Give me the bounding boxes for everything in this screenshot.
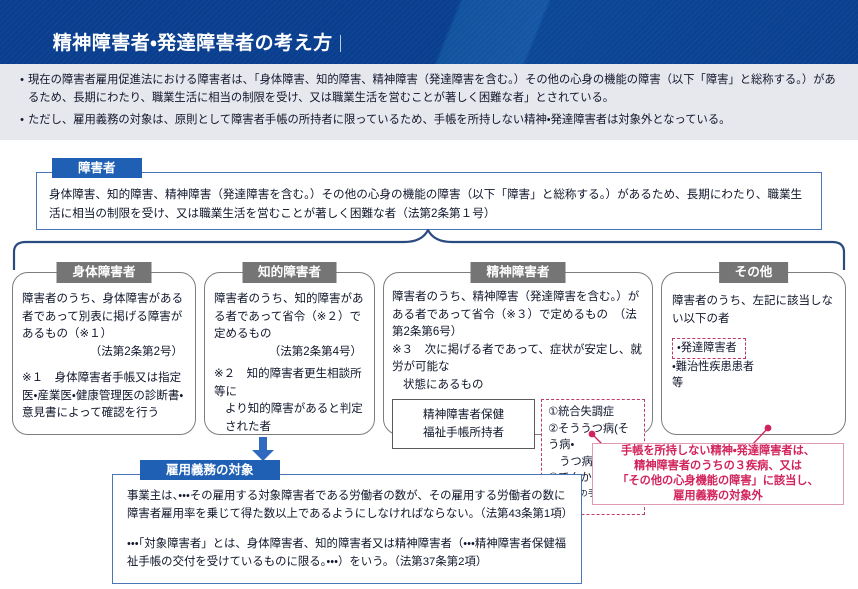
bullet-dot-icon: •: [16, 112, 28, 130]
card-mental-disability-note-2: 状態にあるもの: [392, 377, 645, 395]
definition-box: 障害者 身体障害、知的障害、精神障害（発達障害を含む。）その他の心身の機能の障害…: [36, 158, 822, 230]
lead-bullet-item: • 現在の障害者雇用促進法における障害者は、「身体障害、知的障害、精神障害（発達…: [16, 72, 844, 107]
annotation-line: 精神障害者のうちの３疾病、又は: [634, 460, 802, 472]
title-separator-icon: [340, 35, 341, 52]
card-intellectual-disability-text: 障害者のうち、知的障害がある者であって省令（※２）で定めるもの: [214, 291, 366, 344]
annotation-line: 「その他の心身機能の障害」に該当し、: [617, 475, 818, 487]
card-intellectual-disability-label: 知的障害者: [242, 262, 337, 283]
definition-body: 身体障害、知的障害、精神障害（発達障害を含む。）その他の心身の機能の障害（以下「…: [36, 172, 822, 230]
card-physical-disability: 身体障害者 障害者のうち、身体障害がある者であって別表に掲げる障害があるもの（※…: [12, 272, 196, 435]
card-physical-disability-note: ※１ 身体障害者手帳又は指定医・産業医・健康管理医の診断書・意見書によって確認を…: [22, 370, 187, 423]
employment-duty-paragraph-1: 事業主は、・・・その雇用する対象障害者である労働者の数が、その雇用する労働者の数…: [127, 487, 569, 523]
card-mental-disability-label: 精神障害者: [471, 262, 566, 283]
other-developmental-disability-box: ・発達障害者: [672, 338, 746, 359]
lead-bullet-item: • ただし、雇用義務の対象は、原則として障害者手帳の所持者に限っているため、手帳…: [16, 112, 844, 130]
definition-tab-label: 障害者: [52, 158, 142, 178]
lead-bullet-text: ただし、雇用義務の対象は、原則として障害者手帳の所持者に限っているため、手帳を所…: [28, 112, 844, 130]
mental-handbook-holder-line1: 精神障害者保健: [423, 408, 504, 421]
card-other-text: 障害者のうち、左記に該当しない以下の者: [672, 293, 836, 328]
other-item: ・難治性疾患患者: [672, 359, 836, 376]
mental-handbook-holder-line2: 福祉手帳所持者: [423, 426, 504, 439]
card-intellectual-disability-note: ※２ 知的障害者更生相談所等に: [214, 366, 366, 401]
lead-bullet-text: 現在の障害者雇用促進法における障害者は、「身体障害、知的障害、精神障害（発達障害…: [28, 72, 844, 107]
card-physical-disability-text: 障害者のうち、身体障害がある者であって別表に掲げる障害があるもの（※１）: [22, 291, 187, 344]
card-intellectual-disability-body: 障害者のうち、知的障害がある者であって省令（※２）で定めるもの （法第2条第4号…: [205, 273, 374, 442]
annotation-line: 手帳を所持しない精神・発達障害者は、: [621, 445, 815, 457]
card-intellectual-disability-note-2: より知的障害があると判定された者: [214, 401, 366, 436]
annotation-line: 雇用義務の対象外: [673, 490, 763, 502]
down-arrow-icon: [250, 437, 276, 461]
other-item: 等: [672, 375, 836, 392]
employment-duty-paragraph-2: ・・・「対象障害者」とは、身体障害者、知的障害者又は精神障害者（・・・精神障害者…: [127, 535, 569, 571]
card-physical-disability-reference: （法第2条第2号）: [22, 344, 187, 362]
other-item: ・発達障害者: [677, 340, 737, 357]
slide-root: 精神障害者・発達障害者の考え方 障害者雇用促進法上の位置づけ • 現在の障害者雇…: [0, 0, 858, 589]
card-other-label: その他: [719, 262, 789, 283]
annotation-exclusion-note: 手帳を所持しない精神・発達障害者は、 精神障害者のうちの３疾病、又は 「その他の…: [592, 443, 844, 505]
page-title-line1: 精神障害者・発達障害者の考え方: [53, 33, 333, 54]
bullet-dot-icon: •: [16, 72, 28, 107]
employment-duty-tab-label: 雇用義務の対象: [140, 460, 280, 480]
card-intellectual-disability-reference: （法第2条第4号）: [214, 344, 366, 362]
annotation-text: 手帳を所持しない精神・発達障害者は、 精神障害者のうちの３疾病、又は 「その他の…: [617, 444, 818, 504]
page-title: 精神障害者・発達障害者の考え方 障害者雇用促進法上の位置づけ: [18, 6, 341, 64]
card-physical-disability-label: 身体障害者: [57, 262, 152, 283]
employment-duty-box: 雇用義務の対象 事業主は、・・・その雇用する対象障害者である労働者の数が、その雇…: [112, 460, 582, 584]
card-physical-disability-body: 障害者のうち、身体障害がある者であって別表に掲げる障害があるもの（※１） （法第…: [13, 273, 195, 429]
card-other-body: 障害者のうち、左記に該当しない以下の者 ・発達障害者 ・難治性疾患患者 等: [662, 273, 845, 398]
slide-header: 精神障害者・発達障害者の考え方 障害者雇用促進法上の位置づけ: [0, 0, 858, 64]
card-intellectual-disability: 知的障害者 障害者のうち、知的障害がある者であって省令（※２）で定めるもの （法…: [204, 272, 375, 435]
definition-text: 身体障害、知的障害、精神障害（発達障害を含む。）その他の心身の機能の障害（以下「…: [49, 185, 811, 223]
card-mental-disability-note: ※３ 次に掲げる者であって、症状が安定し、就労が可能な: [392, 342, 645, 377]
lead-bullet-strip: • 現在の障害者雇用促進法における障害者は、「身体障害、知的障害、精神障害（発達…: [0, 64, 858, 140]
employment-duty-body: 事業主は、・・・その雇用する対象障害者である労働者の数が、その雇用する労働者の数…: [112, 474, 582, 584]
card-mental-disability-text: 障害者のうち、精神障害（発達障害を含む。）がある者であって省令（※３）で定めるも…: [392, 289, 645, 342]
